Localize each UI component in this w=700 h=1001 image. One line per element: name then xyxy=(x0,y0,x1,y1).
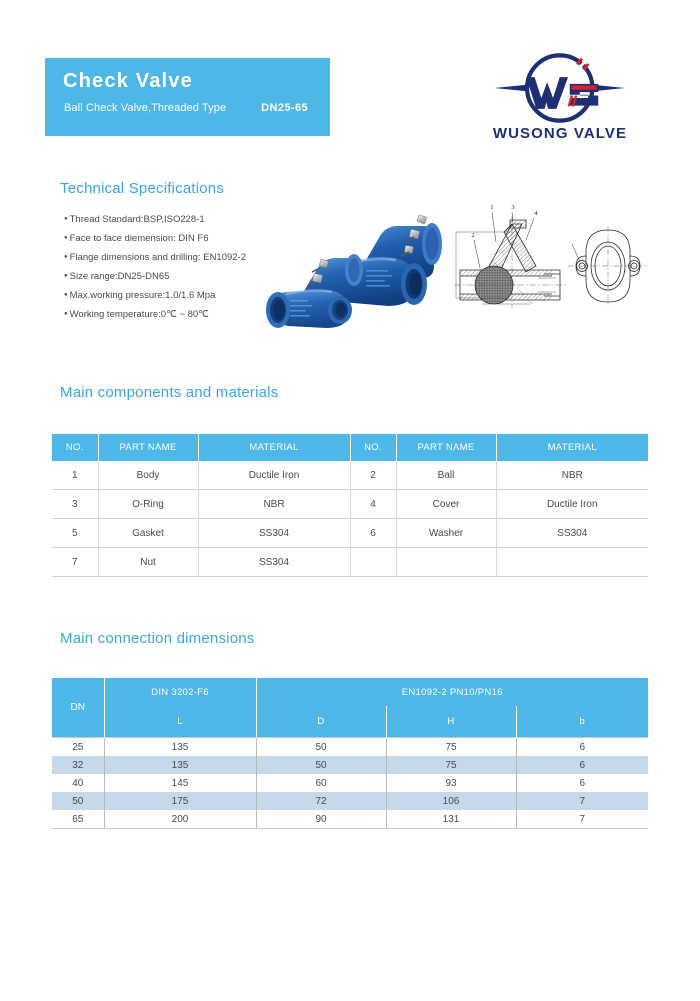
dimensions-heading: Main connection dimensions xyxy=(60,630,254,647)
cell-h: 75 xyxy=(386,738,516,757)
components-heading: Main components and materials xyxy=(60,384,278,401)
cell-material: SS304 xyxy=(198,548,350,577)
table-row: 32 135 50 75 6 xyxy=(52,756,648,774)
specifications-heading: Technical Specifications xyxy=(60,180,224,197)
cell-b: 6 xyxy=(516,756,648,774)
cell-part-name: Body xyxy=(98,461,198,490)
svg-text:2: 2 xyxy=(471,232,474,239)
cell-no: 1 xyxy=(52,461,98,490)
cell-no: 7 xyxy=(52,548,98,577)
col-header-h: H xyxy=(386,706,516,738)
col-header-material-2: MATERIAL xyxy=(496,434,648,461)
brand-name: WUSONG VALVE xyxy=(470,125,650,142)
valve-end-view-flange-drawing xyxy=(566,222,650,310)
table-row: 1 Body Ductile Iron 2 Ball NBR xyxy=(52,461,648,490)
col-header-part-name-2: PART NAME xyxy=(396,434,496,461)
cell-material: NBR xyxy=(198,490,350,519)
col-header-d: D xyxy=(256,706,386,738)
col-header-dn: DN xyxy=(52,678,104,738)
cell-part-name: Cover xyxy=(396,490,496,519)
svg-text:1: 1 xyxy=(490,204,493,211)
cell-l: 145 xyxy=(104,774,256,792)
table-header-group-row: DN DIN 3202-F6 EN1092-2 PN10/PN16 xyxy=(52,678,648,706)
cell-dn: 65 xyxy=(52,810,104,829)
table-row: 65 200 90 131 7 xyxy=(52,810,648,829)
cell-no: 6 xyxy=(350,519,396,548)
cell-b: 6 xyxy=(516,774,648,792)
product-photo xyxy=(262,196,452,328)
table-row: 7 Nut SS304 xyxy=(52,548,648,577)
wusong-ws-monogram-icon xyxy=(476,52,643,124)
banner-size-code: DN25-65 xyxy=(261,102,316,114)
brand-logo: WUSONG VALVE xyxy=(470,52,650,157)
cell-b: 7 xyxy=(516,810,648,829)
cell-dn: 25 xyxy=(52,738,104,757)
cell-no-empty xyxy=(350,548,396,577)
cell-d: 50 xyxy=(256,756,386,774)
cell-dn: 32 xyxy=(52,756,104,774)
table-row: 25 135 50 75 6 xyxy=(52,738,648,757)
title-banner: Check Valve Ball Check Valve,Threaded Ty… xyxy=(45,58,330,136)
col-group-header-din: DIN 3202-F6 xyxy=(104,678,256,706)
cell-part-name: Gasket xyxy=(98,519,198,548)
col-header-no-2: NO. xyxy=(350,434,396,461)
table-header-row: NO. PART NAME MATERIAL NO. PART NAME MAT… xyxy=(52,434,648,461)
col-header-part-name-1: PART NAME xyxy=(98,434,198,461)
cell-material: SS304 xyxy=(198,519,350,548)
cell-material: SS304 xyxy=(496,519,648,548)
cell-l: 135 xyxy=(104,738,256,757)
table-row: 40 145 60 93 6 xyxy=(52,774,648,792)
table-row: 5 Gasket SS304 6 Washer SS304 xyxy=(52,519,648,548)
banner-subtitle-row: Ball Check Valve,Threaded Type DN25-65 xyxy=(64,102,316,114)
cell-part-name: O-Ring xyxy=(98,490,198,519)
svg-text:4: 4 xyxy=(534,210,538,217)
cell-h: 75 xyxy=(386,756,516,774)
cell-part-name: Nut xyxy=(98,548,198,577)
cell-material: NBR xyxy=(496,461,648,490)
cell-b: 6 xyxy=(516,738,648,757)
cell-part-name: Washer xyxy=(396,519,496,548)
valve-front xyxy=(266,254,363,328)
banner-subtitle: Ball Check Valve,Threaded Type xyxy=(64,102,226,114)
cell-material: Ductile Iron xyxy=(496,490,648,519)
cell-no: 3 xyxy=(52,490,98,519)
cell-material-empty xyxy=(496,548,648,577)
cell-dn: 40 xyxy=(52,774,104,792)
cell-l: 175 xyxy=(104,792,256,810)
components-table: NO. PART NAME MATERIAL NO. PART NAME MAT… xyxy=(52,434,648,577)
page-title: Check Valve xyxy=(63,70,193,93)
svg-text:3: 3 xyxy=(511,204,514,211)
cell-material: Ductile Iron xyxy=(198,461,350,490)
col-header-l: L xyxy=(104,706,256,738)
col-group-header-en: EN1092-2 PN10/PN16 xyxy=(256,678,648,706)
col-header-b: b xyxy=(516,706,648,738)
cell-no: 5 xyxy=(52,519,98,548)
cell-no: 2 xyxy=(350,461,396,490)
cell-d: 72 xyxy=(256,792,386,810)
cell-b: 7 xyxy=(516,792,648,810)
cell-part-name: Ball xyxy=(396,461,496,490)
col-header-material-1: MATERIAL xyxy=(198,434,350,461)
table-header-sub-row: L D H b xyxy=(52,706,648,738)
cell-no: 4 xyxy=(350,490,396,519)
valve-cross-section-drawing: 1 3 4 2 xyxy=(452,196,568,322)
cell-l: 135 xyxy=(104,756,256,774)
table-row: 3 O-Ring NBR 4 Cover Ductile Iron xyxy=(52,490,648,519)
table-row: 50 175 72 106 7 xyxy=(52,792,648,810)
cell-d: 90 xyxy=(256,810,386,829)
cell-l: 200 xyxy=(104,810,256,829)
cell-dn: 50 xyxy=(52,792,104,810)
cell-d: 60 xyxy=(256,774,386,792)
cell-h: 106 xyxy=(386,792,516,810)
dimensions-table: DN DIN 3202-F6 EN1092-2 PN10/PN16 L D H … xyxy=(52,678,648,829)
cell-d: 50 xyxy=(256,738,386,757)
cell-part-name-empty xyxy=(396,548,496,577)
cell-h: 93 xyxy=(386,774,516,792)
col-header-no-1: NO. xyxy=(52,434,98,461)
cell-h: 131 xyxy=(386,810,516,829)
